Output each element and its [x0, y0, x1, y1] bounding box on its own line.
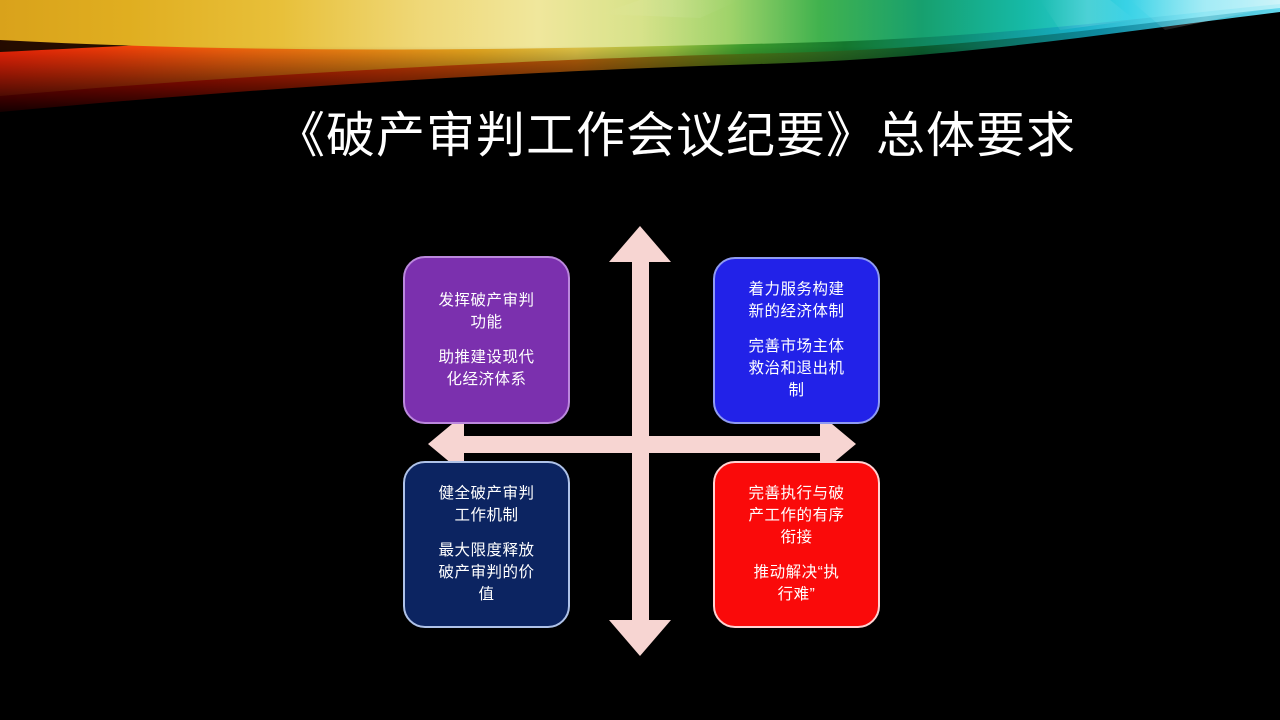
quadrant-box-bottom-right[interactable]: 完善执行与破 产工作的有序 衔接 推动解决“执 行难” — [713, 461, 880, 628]
quadrant-paragraph: 最大限度释放 破产审判的价 值 — [438, 540, 534, 606]
text-line: 最大限度释放 — [438, 540, 534, 562]
swoosh-ribbon-decoration — [0, 0, 1280, 120]
quadrant-box-top-left[interactable]: 发挥破产审判 功能 助推建设现代 化经济体系 — [403, 256, 570, 424]
text-line: 救治和退出机 — [748, 358, 844, 380]
vertical-double-arrow — [609, 226, 671, 656]
text-line: 发挥破产审判 — [438, 290, 534, 312]
slide-canvas: 《破产审判工作会议纪要》总体要求 发挥破产审判 功能 助推建设现代 化经济体系 … — [0, 0, 1280, 720]
page-title: 《破产审判工作会议纪要》总体要求 — [0, 106, 1280, 166]
text-line: 新的经济体制 — [748, 301, 844, 323]
text-line: 制 — [748, 380, 844, 402]
quadrant-paragraph: 发挥破产审判 功能 — [438, 290, 534, 334]
text-line: 破产审判的价 — [438, 562, 534, 584]
text-line: 推动解决“执 — [754, 562, 840, 584]
text-line: 着力服务构建 — [748, 279, 844, 301]
quadrant-paragraph: 完善市场主体 救治和退出机 制 — [748, 336, 844, 402]
text-line: 完善市场主体 — [748, 336, 844, 358]
text-line: 值 — [438, 584, 534, 606]
text-line: 化经济体系 — [438, 369, 534, 391]
quadrant-box-bottom-left[interactable]: 健全破产审判 工作机制 最大限度释放 破产审判的价 值 — [403, 461, 570, 628]
text-line: 健全破产审判 — [438, 483, 534, 505]
text-line: 工作机制 — [438, 505, 534, 527]
text-line: 行难” — [754, 584, 840, 606]
quadrant-paragraph: 着力服务构建 新的经济体制 — [748, 279, 844, 323]
quadrant-box-top-right[interactable]: 着力服务构建 新的经济体制 完善市场主体 救治和退出机 制 — [713, 257, 880, 424]
quadrant-paragraph: 助推建设现代 化经济体系 — [438, 347, 534, 391]
text-line: 产工作的有序 — [748, 505, 844, 527]
text-line: 衔接 — [748, 527, 844, 549]
text-line: 完善执行与破 — [748, 483, 844, 505]
quadrant-paragraph: 健全破产审判 工作机制 — [438, 483, 534, 527]
text-line: 助推建设现代 — [438, 347, 534, 369]
quadrant-paragraph: 完善执行与破 产工作的有序 衔接 — [748, 483, 844, 549]
quadrant-paragraph: 推动解决“执 行难” — [754, 562, 840, 606]
text-line: 功能 — [438, 312, 534, 334]
